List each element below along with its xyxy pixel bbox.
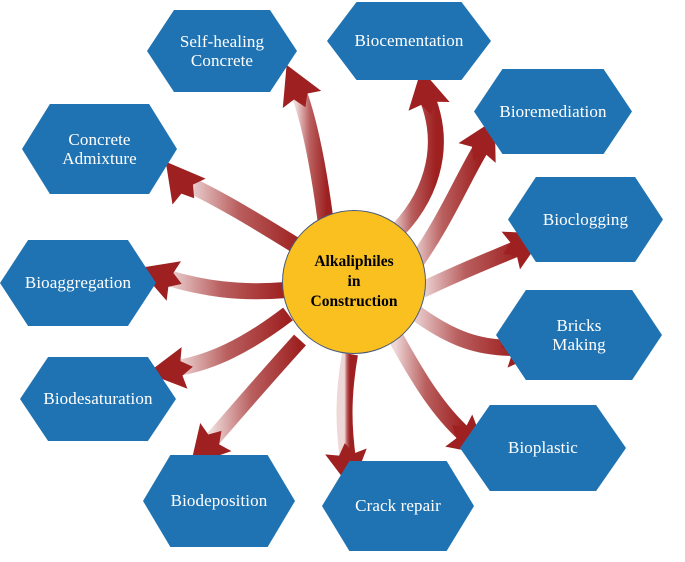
- node-label-concrete-admixture: Concrete Admixture: [58, 130, 141, 168]
- node-label-biocementation: Biocementation: [350, 31, 467, 50]
- node-bioaggregation[interactable]: Bioaggregation: [0, 240, 156, 326]
- node-bricks-making[interactable]: Bricks Making: [496, 290, 662, 380]
- node-bioplastic[interactable]: Bioplastic: [460, 405, 626, 491]
- node-biodesaturation[interactable]: Biodesaturation: [20, 357, 176, 441]
- node-biocementation[interactable]: Biocementation: [327, 2, 491, 80]
- node-bioclogging[interactable]: Bioclogging: [508, 177, 663, 262]
- arrow-to-concrete-admixture: [149, 149, 300, 248]
- node-self-healing-concrete[interactable]: Self-healing Concrete: [147, 10, 297, 92]
- node-label-crack-repair: Crack repair: [351, 496, 445, 515]
- diagram-canvas: Alkaliphiles in Construction Self-healin…: [0, 0, 685, 562]
- node-label-self-healing-concrete: Self-healing Concrete: [176, 32, 268, 70]
- node-label-biodesaturation: Biodesaturation: [39, 389, 156, 408]
- node-label-biodeposition: Biodeposition: [167, 491, 272, 510]
- node-label-bioplastic: Bioplastic: [504, 438, 582, 457]
- center-hub-label: Alkaliphiles in Construction: [311, 252, 398, 312]
- node-label-bioclogging: Bioclogging: [539, 210, 632, 229]
- node-label-bioaggregation: Bioaggregation: [21, 273, 135, 292]
- arrow-to-bioaggregation: [131, 248, 286, 303]
- node-concrete-admixture[interactable]: Concrete Admixture: [22, 104, 177, 194]
- center-hub[interactable]: Alkaliphiles in Construction: [282, 210, 426, 354]
- node-crack-repair[interactable]: Crack repair: [322, 461, 474, 551]
- node-biodeposition[interactable]: Biodeposition: [143, 455, 295, 547]
- arrow-to-self-healing-concrete: [267, 56, 327, 232]
- node-label-bricks-making: Bricks Making: [548, 316, 609, 354]
- node-bioremediation[interactable]: Bioremediation: [474, 69, 632, 154]
- node-label-bioremediation: Bioremediation: [495, 102, 610, 121]
